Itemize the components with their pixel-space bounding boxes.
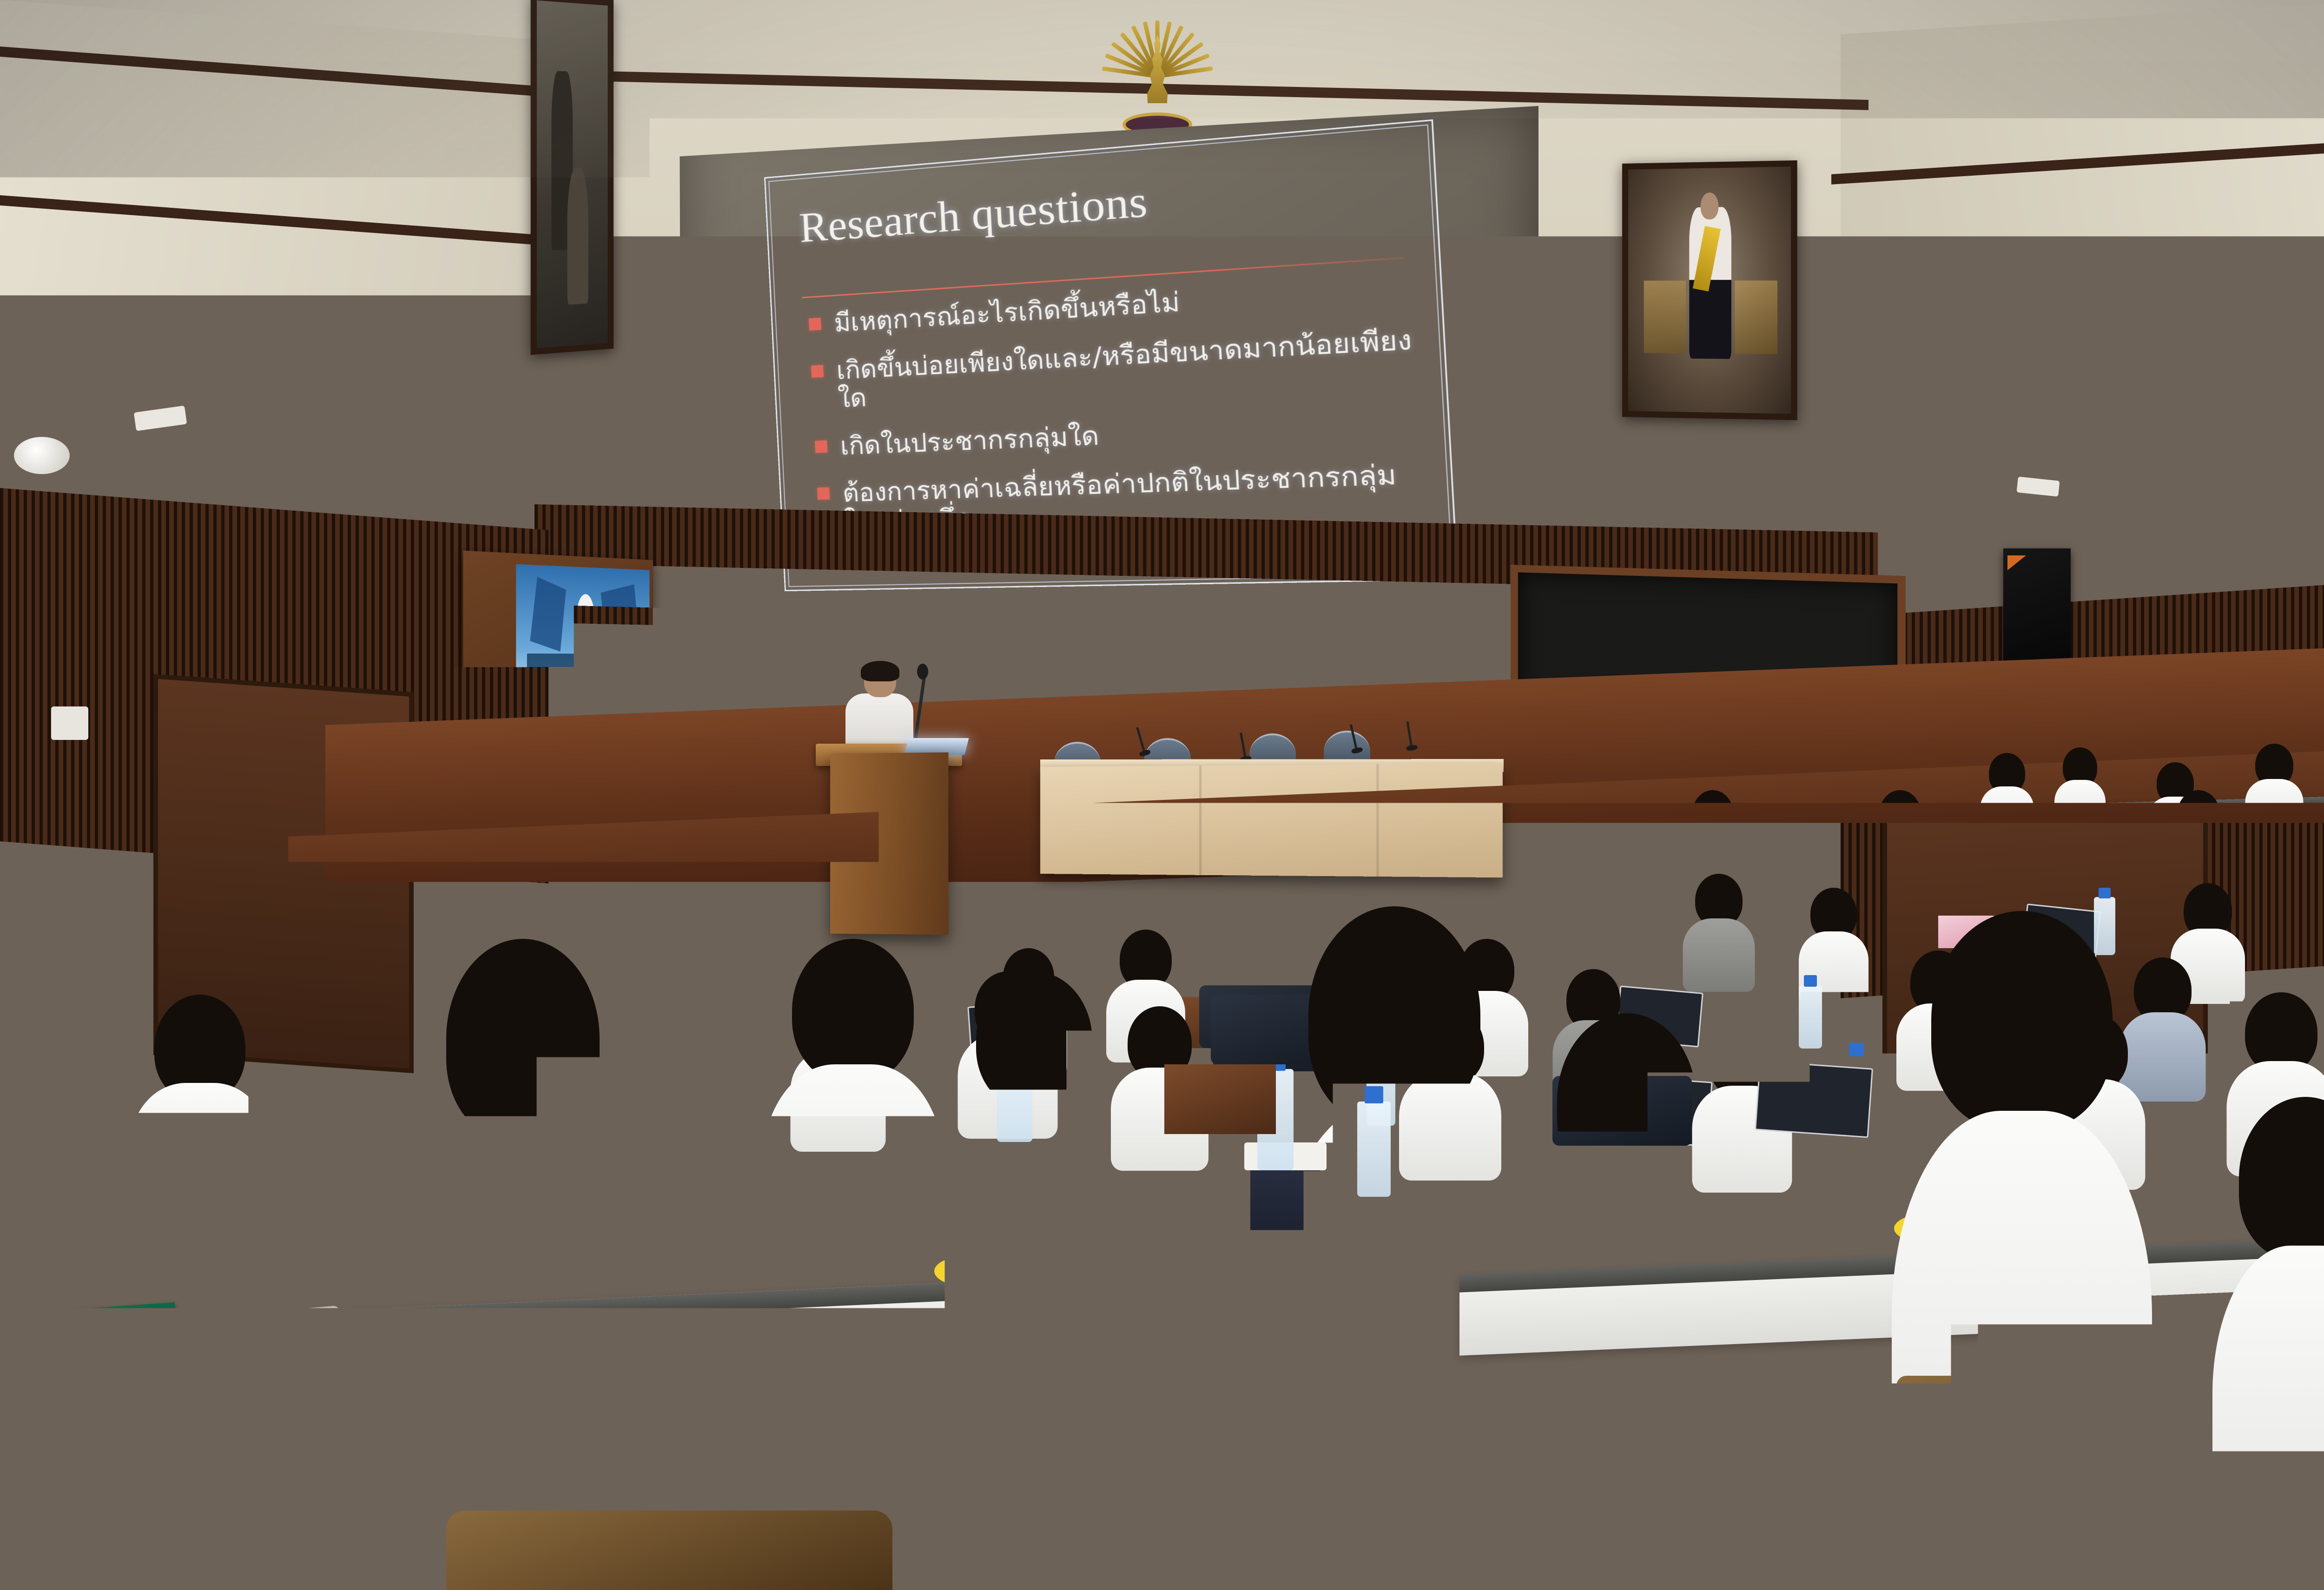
audience-member (130, 995, 270, 1236)
dark-recess-panel (186, 297, 284, 500)
audience-member (2278, 818, 2324, 925)
audience-member-foreground (2212, 1097, 2324, 1590)
audience-member (1766, 803, 1824, 898)
audience-member (1683, 790, 1743, 888)
chair-back (446, 1511, 892, 1590)
royal-portrait (1622, 160, 1797, 420)
fire-alarm-bell (2252, 465, 2281, 494)
portrait-head (1700, 192, 1718, 219)
dome-light (14, 437, 70, 474)
audience-member (762, 939, 944, 1311)
audience-member-foreground (1529, 1013, 1724, 1590)
pa-speaker (172, 521, 272, 660)
lecture-hall-photograph: Research questions มีเหตุการณ์อะไรเกิดขึ… (0, 0, 2324, 1590)
bullet-text: เกิดขึ้นบ่อยเพียงใดและ/หรือมีขนาดมากน้อย… (836, 324, 1426, 413)
audience-member (288, 1083, 432, 1334)
audience-member-foreground (1274, 906, 1515, 1590)
presenter-hair (861, 661, 899, 681)
bullet-square-icon (818, 487, 830, 500)
historical-photograph (531, 0, 614, 355)
bullet-square-icon (815, 440, 828, 453)
tablet-device[interactable] (1755, 1061, 1873, 1138)
pa-speaker (2003, 548, 2071, 665)
list-item: เกิดขึ้นบ่อยเพียงใดและ/หรือมีขนาดมากน้อย… (811, 324, 1426, 415)
list-item: เกิดในประชากรกลุ่มใด (815, 407, 1429, 462)
audience-member (1868, 790, 1931, 890)
audience-member (948, 971, 1120, 1325)
audience-member (1683, 874, 1755, 988)
presenter (844, 664, 915, 757)
audience-member (1966, 809, 2027, 906)
audience-member (2054, 747, 2106, 831)
pencil-box (1164, 1064, 1276, 1134)
wall-fixture (553, 404, 570, 474)
audience-member (2166, 790, 2231, 895)
bullet-square-icon (809, 318, 822, 331)
water-bottle (1799, 985, 1822, 1049)
water-bottle (2124, 832, 2145, 888)
podium-microphone (917, 664, 928, 680)
backpack (1580, 911, 1687, 967)
chair-back (1896, 1376, 2082, 1590)
bullet-square-icon (812, 365, 824, 378)
bullet-text: เกิดในประชากรกลุ่มใด (840, 421, 1100, 461)
emergency-light (51, 706, 88, 740)
